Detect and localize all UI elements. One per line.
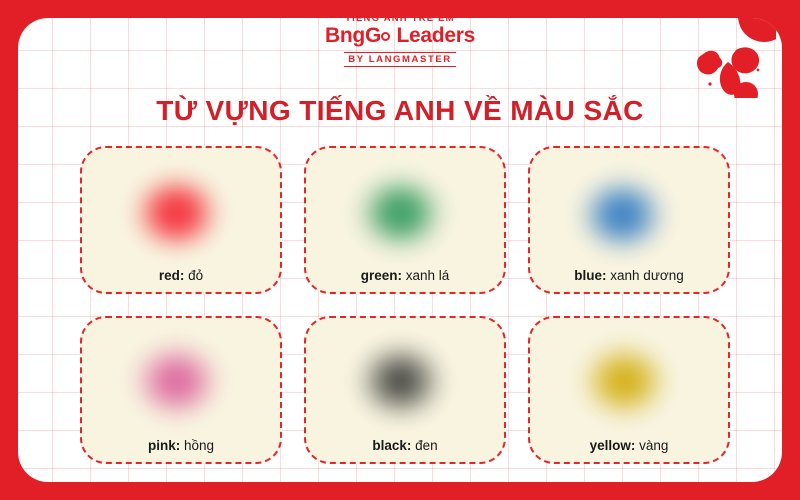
paint-splatter-icon [676,18,776,98]
vocabulary-card-yellow[interactable]: yellow: vàng [528,316,730,464]
card-label: black: đen [372,439,437,453]
card-label-vi: xanh dương [610,268,683,283]
card-label-en: yellow: [590,438,636,453]
card-label-vi: đỏ [188,268,203,283]
yellow-color-blob [573,333,685,429]
pink-color-blob [125,333,237,429]
card-label-vi: xanh lá [406,268,450,283]
card-label: yellow: vàng [590,439,669,453]
card-label: green: xanh lá [361,269,450,283]
card-label-vi: hồng [184,438,214,453]
card-label-en: green: [361,268,402,283]
card-label-vi: vàng [639,438,668,453]
vocabulary-card-red[interactable]: red: đỏ [80,146,282,294]
green-color-blob [349,163,461,259]
card-label-en: pink: [148,438,180,453]
black-color-blob [349,333,461,429]
brand-name-part3: Leaders [391,24,475,47]
red-color-blob [125,163,237,259]
blue-color-blob [573,163,685,259]
vocabulary-card-black[interactable]: black: đen [304,316,506,464]
brand-o-dot-icon [381,32,390,41]
card-label: pink: hồng [148,439,214,453]
inner-panel: TIẾNG ANH TRẺ EM BngG Leaders BY LANGMAS… [18,18,782,482]
vocabulary-card-green[interactable]: green: xanh lá [304,146,506,294]
brand-name-part1: B [325,24,340,47]
brand-name-part2: ngG [340,24,381,47]
card-label: red: đỏ [159,269,203,283]
brand-name: BngG Leaders [18,25,782,47]
vocabulary-card-blue[interactable]: blue: xanh dương [528,146,730,294]
card-label-en: blue: [574,268,606,283]
card-label-en: red: [159,268,185,283]
page-title: TỪ VỰNG TIẾNG ANH VỀ MÀU SẮC [18,96,782,127]
vocabulary-card-grid: red: đỏ green: xanh lá blue: xanh dương [80,146,760,464]
brand-logo: TIẾNG ANH TRẺ EM BngG Leaders BY LANGMAS… [18,18,782,67]
card-label: blue: xanh dương [574,269,683,283]
vocabulary-card-pink[interactable]: pink: hồng [80,316,282,464]
card-label-vi: đen [415,438,438,453]
card-label-en: black: [372,438,411,453]
brand-byline: BY LANGMASTER [344,52,456,68]
poster-canvas: TIẾNG ANH TRẺ EM BngG Leaders BY LANGMAS… [0,0,800,500]
